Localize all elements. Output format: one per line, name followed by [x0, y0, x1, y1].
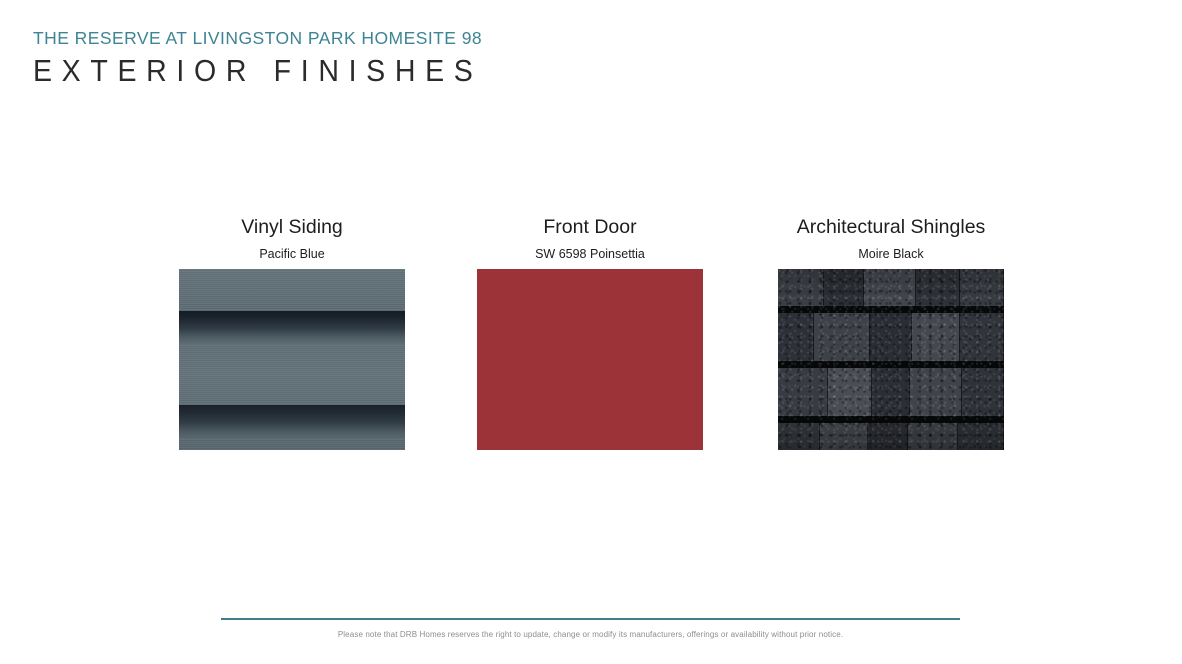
shingle-shadow-line	[778, 361, 1004, 368]
shingle-tab	[868, 423, 908, 450]
finish-card-vinyl-siding: Vinyl Siding Pacific Blue	[179, 216, 405, 450]
footer-disclaimer: Please note that DRB Homes reserves the …	[221, 630, 960, 640]
finish-spec: Moire Black	[778, 247, 1004, 262]
shingle-tab	[916, 269, 960, 309]
footer-divider	[221, 618, 960, 620]
shingle-tab	[820, 423, 868, 450]
finish-swatch-image-architectural-shingles	[778, 269, 1004, 450]
finish-spec: Pacific Blue	[179, 247, 405, 262]
shingle-tab	[962, 368, 1004, 420]
shingle-course	[778, 269, 1004, 309]
shingle-tab	[912, 313, 960, 365]
shingle-tab	[778, 269, 824, 309]
shingle-tab	[778, 313, 814, 365]
community-title: THE RESERVE AT LIVINGSTON PARK HOMESITE …	[33, 28, 522, 50]
slide-header: THE RESERVE AT LIVINGSTON PARK HOMESITE …	[33, 28, 522, 88]
finish-name: Front Door	[477, 216, 703, 239]
shingle-tab	[778, 368, 828, 420]
shingle-tab	[828, 368, 872, 420]
siding-sheen-overlay	[179, 269, 405, 450]
shingle-shadow-line	[778, 306, 1004, 313]
shingle-tab	[824, 269, 864, 309]
shingle-course	[778, 368, 1004, 420]
finish-card-architectural-shingles: Architectural Shingles Moire Black	[778, 216, 1004, 450]
exterior-finishes-slide: THE RESERVE AT LIVINGSTON PARK HOMESITE …	[0, 0, 1182, 664]
shingle-shadow-line	[778, 416, 1004, 423]
shingle-tab	[908, 423, 958, 450]
finish-swatch-image-vinyl-siding	[179, 269, 405, 450]
shingle-tab	[814, 313, 870, 365]
shingle-tab	[960, 269, 1004, 309]
finish-name: Architectural Shingles	[778, 216, 1004, 239]
shingle-tab	[960, 313, 1004, 365]
page-title: EXTERIOR FINISHES	[33, 54, 482, 88]
shingle-tab	[872, 368, 910, 420]
shingle-tab	[910, 368, 962, 420]
finish-swatch-image-front-door	[477, 269, 703, 450]
shingle-tab	[958, 423, 1004, 450]
shingle-tab	[864, 269, 916, 309]
finish-card-front-door: Front Door SW 6598 Poinsettia	[477, 216, 703, 450]
shingle-tab	[870, 313, 912, 365]
finish-spec: SW 6598 Poinsettia	[477, 247, 703, 262]
finish-name: Vinyl Siding	[179, 216, 405, 239]
shingle-course	[778, 423, 1004, 450]
shingle-tab	[778, 423, 820, 450]
slide-footer: Please note that DRB Homes reserves the …	[221, 618, 960, 640]
finish-swatch-row: Vinyl Siding Pacific Blue Front Door SW …	[0, 216, 1182, 456]
shingle-course	[778, 313, 1004, 365]
